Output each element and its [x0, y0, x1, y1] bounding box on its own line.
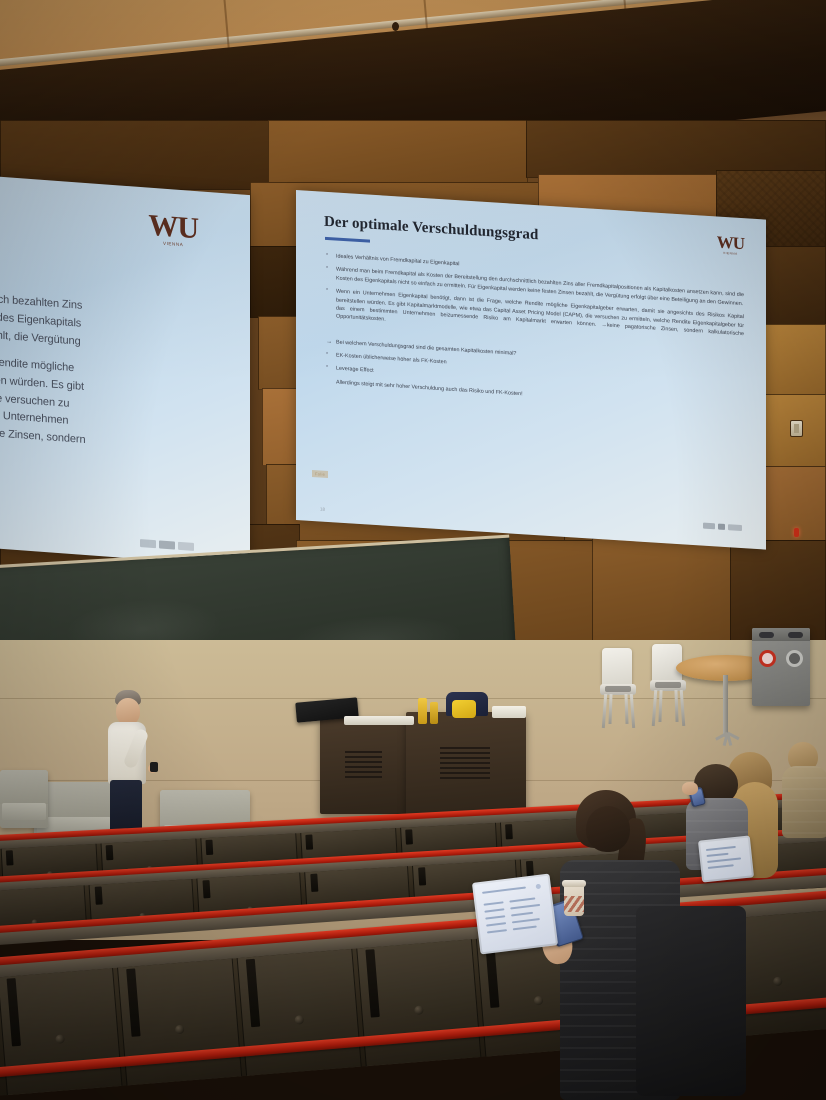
aacsb-logo — [718, 524, 725, 530]
slide-left-line-2: Frage, welche Rendite mögliche apital be… — [0, 349, 204, 459]
bottle — [430, 702, 438, 724]
amba-logo — [728, 524, 742, 531]
presenter-remote — [150, 762, 158, 772]
armchair — [0, 770, 48, 828]
papers — [492, 706, 526, 718]
slide-left-line-4: nd FK-Kosten! — [0, 489, 204, 528]
backpack-front-pocket — [452, 700, 476, 718]
slide-right-content: Der optimale Verschuldungsgrad WU VIENNA… — [296, 190, 766, 550]
aacsb-logo — [159, 540, 175, 549]
ceiling — [0, 0, 826, 120]
tablet[interactable] — [698, 835, 754, 882]
bottle — [418, 698, 427, 724]
bar-stool — [600, 648, 636, 722]
projection-screen-left: WU VIENNA en durchschnittlich bezahlten … — [0, 176, 250, 567]
hand — [682, 782, 698, 795]
title-underline — [325, 237, 370, 242]
amba-logo — [178, 542, 194, 551]
slide-page-tag: Folie — [312, 470, 328, 478]
slide-left-line-1: en durchschnittlich bezahlten Zins sind … — [0, 286, 204, 360]
slide-footer-logos — [703, 523, 742, 531]
equis-logo — [703, 523, 715, 530]
slide-page-number: 18 — [320, 507, 325, 512]
lectern-desk — [406, 712, 526, 816]
tablet[interactable] — [472, 874, 558, 955]
wall-switch[interactable] — [790, 420, 803, 437]
emergency-light — [794, 528, 799, 537]
lecture-hall-photo: WU VIENNA en durchschnittlich bezahlten … — [0, 0, 826, 1100]
projection-screen-right: Der optimale Verschuldungsgrad WU VIENNA… — [296, 190, 766, 550]
backpack — [636, 906, 746, 1096]
equis-logo — [140, 539, 156, 548]
papers — [344, 716, 414, 725]
slide-left-footer-logos — [140, 539, 194, 551]
wu-logo-right: WU VIENNA — [717, 234, 744, 256]
slide-bullet-list: Ideales Verhältnis von Fremdkapital zu E… — [323, 252, 744, 418]
slide-left-content: WU VIENNA en durchschnittlich bezahlten … — [0, 176, 250, 567]
lectern — [320, 718, 408, 814]
bin-badge-grey — [786, 650, 803, 667]
coffee-cup — [564, 884, 584, 916]
wu-logo-left: WU VIENNA — [148, 212, 198, 249]
waste-bin — [752, 628, 810, 706]
bin-badge-red — [759, 650, 776, 667]
ceiling-sensor — [392, 22, 399, 31]
